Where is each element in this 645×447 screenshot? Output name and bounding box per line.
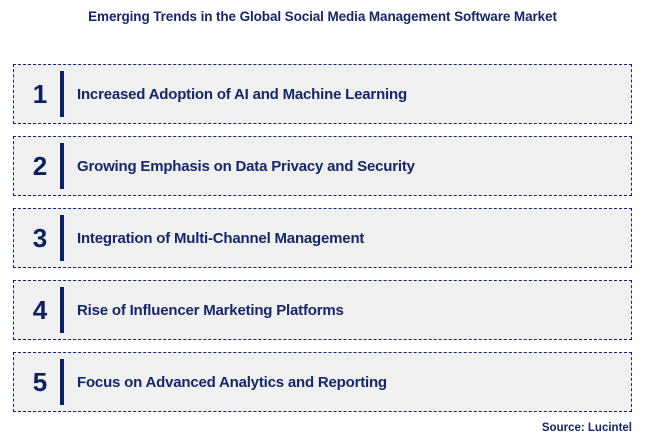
- trend-number: 4: [14, 297, 60, 323]
- trend-number: 1: [14, 81, 60, 107]
- page-title: Emerging Trends in the Global Social Med…: [0, 9, 645, 24]
- trend-row[interactable]: 2 Growing Emphasis on Data Privacy and S…: [13, 136, 632, 196]
- trend-label: Focus on Advanced Analytics and Reportin…: [64, 374, 631, 391]
- trend-label: Rise of Influencer Marketing Platforms: [64, 302, 631, 319]
- trend-row[interactable]: 3 Integration of Multi-Channel Managemen…: [13, 208, 632, 268]
- trend-label: Growing Emphasis on Data Privacy and Sec…: [64, 158, 631, 175]
- trend-label: Integration of Multi-Channel Management: [64, 230, 631, 247]
- trends-infographic: Emerging Trends in the Global Social Med…: [0, 0, 645, 447]
- trend-number: 3: [14, 225, 60, 251]
- trend-row[interactable]: 1 Increased Adoption of AI and Machine L…: [13, 64, 632, 124]
- trend-number: 5: [14, 369, 60, 395]
- trend-row[interactable]: 4 Rise of Influencer Marketing Platforms: [13, 280, 632, 340]
- trend-row[interactable]: 5 Focus on Advanced Analytics and Report…: [13, 352, 632, 412]
- trend-label: Increased Adoption of AI and Machine Lea…: [64, 86, 631, 103]
- trend-list: 1 Increased Adoption of AI and Machine L…: [13, 64, 632, 412]
- source-note: Source: Lucintel: [542, 422, 632, 434]
- trend-number: 2: [14, 153, 60, 179]
